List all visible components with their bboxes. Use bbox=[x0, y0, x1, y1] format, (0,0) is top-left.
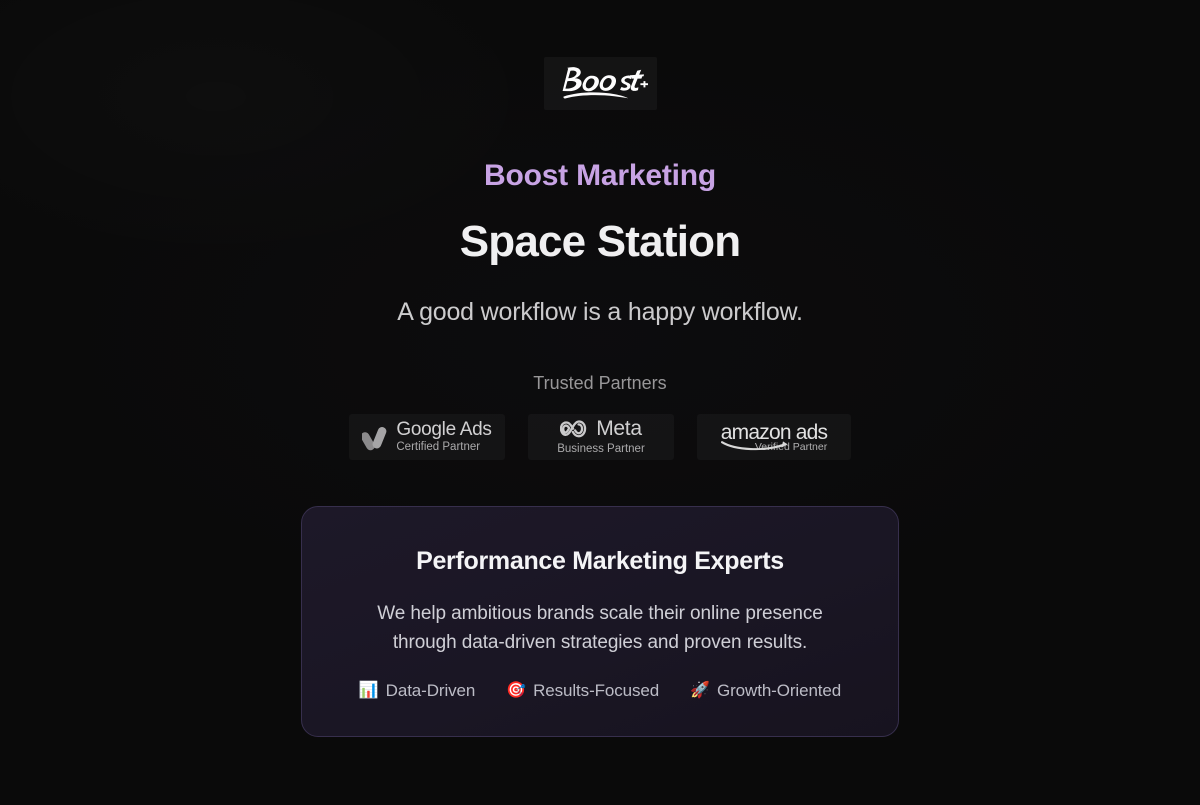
partner-badge-google-ads[interactable]: Google Ads Certified Partner bbox=[349, 414, 505, 460]
target-dart-icon: 🎯 bbox=[506, 683, 526, 699]
partner-status-google: Certified Partner bbox=[396, 441, 480, 455]
page-title: Space Station bbox=[460, 220, 741, 264]
bar-chart-icon: 📊 bbox=[359, 683, 379, 699]
hero-eyebrow: Boost Marketing bbox=[484, 161, 716, 191]
meta-infinity-logo-icon bbox=[560, 420, 590, 438]
amazon-smile-icon bbox=[721, 440, 793, 451]
card-body-line-1: We help ambitious brands scale their onl… bbox=[377, 603, 822, 624]
partner-status-meta: Business Partner bbox=[557, 443, 645, 457]
card-body: We help ambitious brands scale their onl… bbox=[377, 600, 822, 658]
feature-list: 📊 Data-Driven 🎯 Results-Focused 🚀 Growth… bbox=[359, 681, 841, 701]
page-root: Boost Marketing Space Station A good wor… bbox=[0, 0, 1200, 805]
card-title: Performance Marketing Experts bbox=[416, 549, 784, 574]
performance-marketing-card: Performance Marketing Experts We help am… bbox=[301, 506, 899, 737]
partner-name-meta: Meta bbox=[596, 418, 642, 440]
feature-results-focused: 🎯 Results-Focused bbox=[506, 681, 659, 701]
partner-badge-amazon-ads[interactable]: amazon ads Verified Partner bbox=[697, 414, 851, 460]
feature-growth-oriented: 🚀 Growth-Oriented bbox=[690, 681, 841, 701]
feature-data-driven: 📊 Data-Driven bbox=[359, 681, 475, 701]
google-ads-logo-icon bbox=[362, 423, 389, 451]
feature-label-results-focused: Results-Focused bbox=[533, 681, 659, 701]
boost-logo[interactable] bbox=[544, 57, 657, 110]
rocket-icon: 🚀 bbox=[690, 683, 710, 699]
partner-name-google: Google Ads bbox=[396, 420, 491, 440]
feature-label-growth-oriented: Growth-Oriented bbox=[717, 681, 841, 701]
partner-badge-meta[interactable]: Meta Business Partner bbox=[528, 414, 674, 460]
trusted-partners-label: Trusted Partners bbox=[533, 374, 666, 392]
hero-tagline: A good workflow is a happy workflow. bbox=[397, 300, 803, 325]
partner-badge-list: Google Ads Certified Partner Meta Busine… bbox=[349, 414, 851, 460]
boost-wordmark-icon bbox=[553, 62, 648, 106]
card-body-line-2: through data-driven strategies and prove… bbox=[393, 632, 807, 653]
feature-label-data-driven: Data-Driven bbox=[386, 681, 476, 701]
